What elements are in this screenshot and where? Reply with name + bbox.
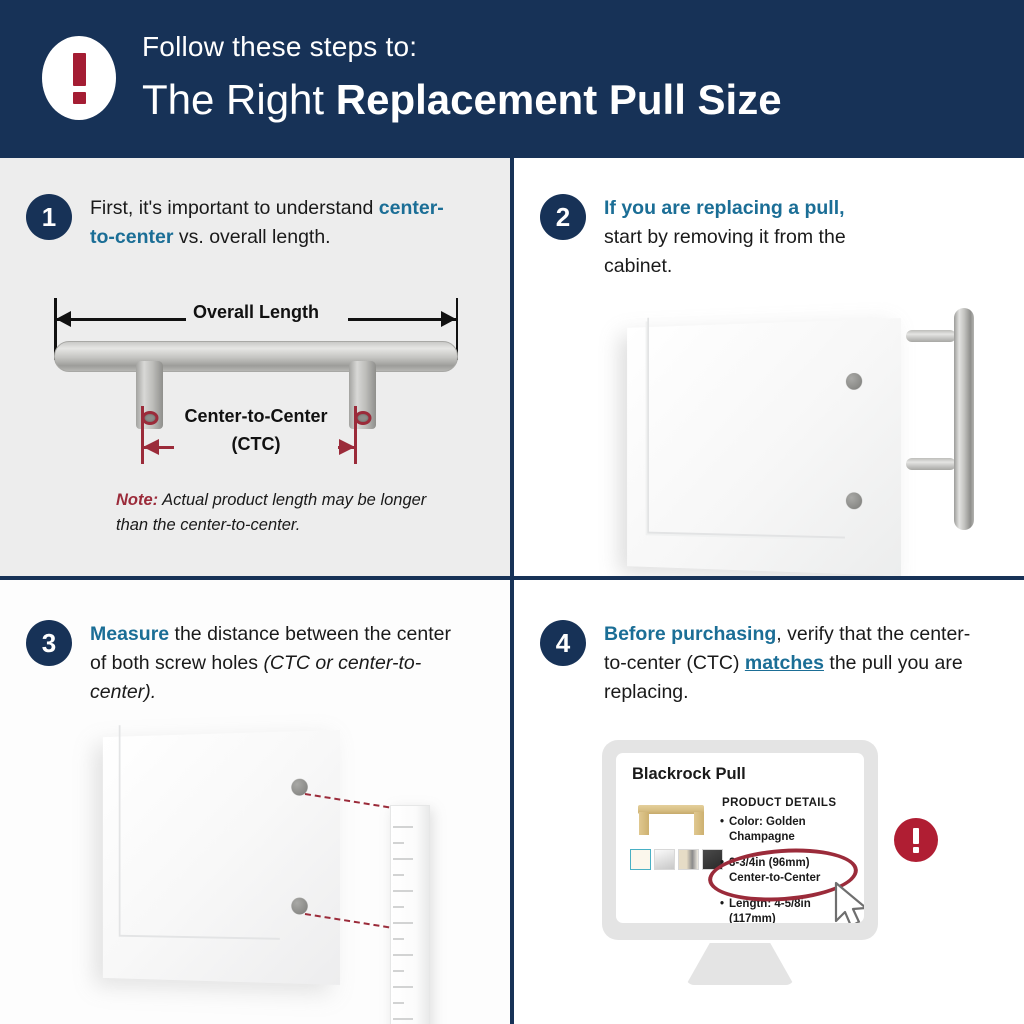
step-2-text: If you are replacing a pull, start by re… bbox=[604, 194, 870, 281]
step-1-text-after: vs. overall length. bbox=[173, 226, 330, 248]
note-body: Actual product length may be longer than… bbox=[116, 491, 426, 534]
step-4-heading: 4 Before purchasing, verify that the cen… bbox=[540, 620, 980, 707]
monitor-mockup: Blackrock Pull PRODUCT DETAI bbox=[602, 740, 878, 970]
step-1-heading: 1 First, it's important to understand ce… bbox=[26, 194, 456, 252]
mouse-pointer-icon bbox=[832, 881, 864, 923]
ruler-tick bbox=[393, 970, 404, 972]
step-2-text-after: start by removing it from the cabinet. bbox=[604, 226, 846, 277]
exclamation-bar bbox=[913, 828, 919, 844]
step-4-accent: Before purchasing bbox=[604, 623, 776, 645]
bar-pull-photo bbox=[912, 308, 974, 530]
page-title: The Right Replacement Pull Size bbox=[142, 72, 782, 128]
step-1-badge: 1 bbox=[26, 194, 72, 240]
ruler-tick bbox=[393, 826, 413, 828]
ctc-arrow-left-icon bbox=[143, 439, 159, 455]
ruler-tick bbox=[393, 986, 413, 988]
step-4-text: Before purchasing, verify that the cente… bbox=[604, 620, 980, 707]
ruler-tick bbox=[393, 842, 404, 844]
pull-arm-bottom bbox=[906, 458, 956, 470]
step-3-badge: 3 bbox=[26, 620, 72, 666]
overall-length-dimension: Overall Length bbox=[54, 298, 458, 328]
product-thumbnail-1[interactable] bbox=[630, 849, 651, 870]
title-light: The Right bbox=[142, 76, 336, 123]
step-2-badge: 2 bbox=[540, 194, 586, 240]
cabinet-door-photo-measure bbox=[103, 730, 340, 985]
product-detail-color: Color: Golden Champagne bbox=[720, 815, 848, 845]
product-pull-leg-left bbox=[639, 812, 649, 835]
grid-divider-vertical bbox=[510, 158, 514, 1024]
panel-step-1: 1 First, it's important to understand ce… bbox=[0, 158, 510, 576]
cabinet-door-photo bbox=[627, 318, 901, 576]
ruler-tick bbox=[393, 1018, 413, 1020]
ruler-tick bbox=[393, 858, 413, 860]
step-3-heading: 3 Measure the distance between the cente… bbox=[26, 620, 456, 707]
ruler-tick bbox=[393, 954, 413, 956]
step-3-text: Measure the distance between the center … bbox=[90, 620, 456, 707]
product-pull-leg-right bbox=[694, 812, 704, 835]
product-title: Blackrock Pull bbox=[632, 765, 746, 784]
step-1-text-before: First, it's important to understand bbox=[90, 197, 379, 219]
ctc-label-line2: (CTC) bbox=[174, 434, 338, 455]
note-text: Note: Actual product length may be longe… bbox=[116, 488, 446, 538]
bar-pull-illustration bbox=[54, 341, 458, 373]
ruler-tick bbox=[393, 874, 404, 876]
step-4-accent-underline: matches bbox=[745, 652, 824, 674]
door-inset-panel bbox=[647, 310, 845, 538]
exclamation-dot bbox=[73, 92, 86, 104]
grid-divider-horizontal bbox=[0, 576, 1024, 580]
exclamation-icon-red bbox=[894, 818, 938, 862]
panel-step-2: 2 If you are replacing a pull, start by … bbox=[514, 158, 1024, 576]
product-image bbox=[632, 797, 710, 841]
pull-bar bbox=[54, 341, 458, 372]
door-screw-hole-top bbox=[846, 373, 862, 390]
exclamation-icon bbox=[42, 36, 116, 120]
product-thumbnail-strip bbox=[630, 849, 723, 870]
step-3-accent: Measure bbox=[90, 623, 169, 645]
panel-step-4: 4 Before purchasing, verify that the cen… bbox=[514, 580, 1024, 1024]
step-2-accent: If you are replacing a pull, bbox=[604, 197, 845, 219]
header-text-block: Follow these steps to: The Right Replace… bbox=[142, 28, 782, 128]
ruler-tick bbox=[393, 906, 404, 908]
product-thumbnail-2[interactable] bbox=[654, 849, 675, 870]
header-eyebrow: Follow these steps to: bbox=[142, 28, 782, 66]
monitor-screen: Blackrock Pull PRODUCT DETAI bbox=[616, 753, 864, 923]
panel-step-3: 3 Measure the distance between the cente… bbox=[0, 580, 510, 1024]
ctc-arrow-right-icon bbox=[339, 439, 355, 455]
ruler-tick bbox=[393, 890, 413, 892]
header-banner: Follow these steps to: The Right Replace… bbox=[0, 0, 1024, 158]
exclamation-bar bbox=[73, 53, 86, 86]
ctc-label-line1: Center-to-Center bbox=[114, 406, 398, 427]
infographic-page: Follow these steps to: The Right Replace… bbox=[0, 0, 1024, 1024]
door-screw-hole-bottom bbox=[291, 898, 307, 915]
ruler bbox=[390, 805, 430, 1024]
step-2-heading: 2 If you are replacing a pull, start by … bbox=[540, 194, 870, 281]
product-thumbnail-3[interactable] bbox=[678, 849, 699, 870]
pull-arm-top bbox=[906, 330, 956, 342]
step-4-badge: 4 bbox=[540, 620, 586, 666]
note-label: Note: bbox=[116, 491, 158, 509]
pull-rod bbox=[954, 308, 974, 530]
exclamation-dot bbox=[913, 847, 919, 853]
title-bold: Replacement Pull Size bbox=[336, 76, 782, 123]
door-inset-panel bbox=[119, 720, 280, 940]
ruler-tick bbox=[393, 922, 413, 924]
ctc-dimension: Center-to-Center (CTC) bbox=[54, 406, 458, 472]
monitor-bezel: Blackrock Pull PRODUCT DETAI bbox=[602, 740, 878, 940]
door-screw-hole-bottom bbox=[846, 492, 862, 509]
steps-grid: 1 First, it's important to understand ce… bbox=[0, 158, 1024, 1024]
pull-dimension-diagram: Overall Length bbox=[46, 298, 466, 473]
step-1-text: First, it's important to understand cent… bbox=[90, 194, 456, 252]
product-details-heading: PRODUCT DETAILS bbox=[722, 797, 836, 809]
overall-length-label: Overall Length bbox=[54, 302, 458, 323]
ruler-tick bbox=[393, 938, 404, 940]
monitor-stand bbox=[686, 943, 794, 985]
ruler-tick bbox=[393, 1002, 404, 1004]
